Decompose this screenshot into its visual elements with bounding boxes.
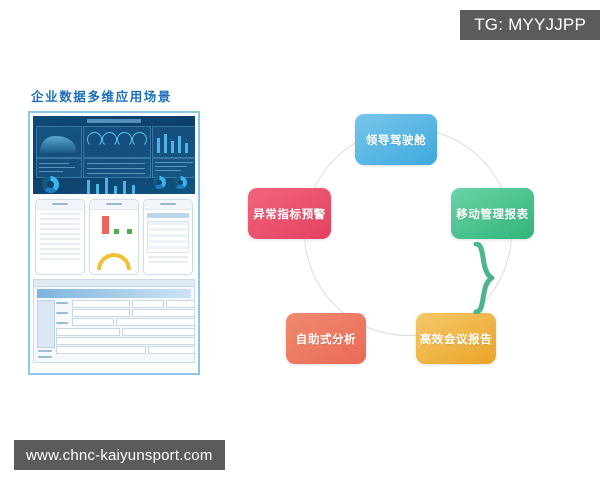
form-menu-bar xyxy=(34,280,194,287)
form-input-field xyxy=(56,337,195,345)
dashboard-gridline xyxy=(155,170,181,171)
form-input-field xyxy=(132,309,195,317)
cycle-diagram: 领导驾驶舱 移动管理报表 高效会议报告 自助式分析 异常指标预警 xyxy=(248,108,588,393)
dashboard-gauge xyxy=(117,132,132,147)
dashboard-bar xyxy=(178,136,181,153)
dashboard-card xyxy=(36,158,82,178)
phone-data-table xyxy=(147,221,189,253)
dashboard-gridline xyxy=(39,167,75,168)
phone-table-header xyxy=(147,213,189,218)
dashboard-bar xyxy=(132,185,135,194)
form-input-field xyxy=(116,318,195,326)
cycle-node-abnormal-indicator-warning[interactable]: 异常指标预警 xyxy=(248,188,331,239)
form-input-field xyxy=(72,318,114,326)
dashboard-bar xyxy=(164,134,167,153)
dashboard-bar xyxy=(114,186,117,194)
cycle-node-mobile-management-report[interactable]: 移动管理报表 xyxy=(451,188,534,239)
form-input-field xyxy=(122,328,195,336)
poster-frame xyxy=(28,111,200,375)
phone-list-row xyxy=(40,228,80,230)
form-input-field xyxy=(72,309,130,317)
dashboard-title-bar xyxy=(87,119,141,123)
phone-marker xyxy=(114,229,119,234)
phone-header xyxy=(144,200,192,210)
dashboard-bar xyxy=(157,138,160,153)
telegram-watermark: TG: MYYJJPP xyxy=(460,10,600,40)
dashboard-donut-chart xyxy=(174,176,187,189)
form-field-label xyxy=(56,322,68,324)
dashboard-gridline xyxy=(39,171,63,172)
phone-list-row xyxy=(40,253,80,255)
cycle-node-self-service-analysis[interactable]: 自助式分析 xyxy=(286,313,366,364)
form-input-field xyxy=(56,346,146,354)
form-field-label xyxy=(56,312,68,314)
phone-bar-chart xyxy=(102,216,109,234)
phone-mockup-list xyxy=(35,199,85,275)
bi-dashboard-image xyxy=(33,116,195,194)
phone-list-row xyxy=(148,256,188,258)
dashboard-donut-chart xyxy=(153,176,166,189)
dashboard-donut-chart xyxy=(42,176,59,193)
dashboard-bar xyxy=(171,141,174,153)
dashboard-gauge xyxy=(132,132,147,147)
dashboard-gridline xyxy=(155,162,193,163)
form-input-field xyxy=(72,300,130,308)
phone-header xyxy=(90,200,138,210)
dashboard-gridline xyxy=(87,173,145,174)
dashboard-gauge xyxy=(102,132,117,147)
phone-list-row xyxy=(148,261,188,263)
phone-list-row xyxy=(40,223,80,225)
phone-header xyxy=(36,200,84,210)
form-input-field xyxy=(132,300,164,308)
form-input-field xyxy=(56,328,120,336)
mobile-mockups-row xyxy=(33,194,195,276)
dashboard-gridline xyxy=(87,163,145,164)
form-field-label xyxy=(38,350,52,352)
phone-list-row xyxy=(40,213,80,215)
dashboard-gridline xyxy=(87,168,145,169)
form-sidebar xyxy=(37,300,55,348)
form-field-label xyxy=(56,302,68,304)
dashboard-bar xyxy=(87,180,90,194)
phone-marker xyxy=(127,229,132,234)
form-title-banner xyxy=(37,289,191,298)
phone-list-row xyxy=(40,218,80,220)
dashboard-bar xyxy=(96,184,99,194)
phone-list-row xyxy=(40,233,80,235)
poster-title: 企业数据多维应用场景 xyxy=(31,86,218,105)
phone-list-row xyxy=(40,248,80,250)
cycle-node-efficient-meeting-report[interactable]: 高效会议报告 xyxy=(416,313,496,364)
dashboard-card xyxy=(152,158,195,178)
curly-brace-icon xyxy=(470,242,496,314)
phone-mockup-table xyxy=(143,199,193,275)
phone-list-row xyxy=(40,238,80,240)
dashboard-bar xyxy=(185,143,188,153)
site-url-watermark: www.chnc-kaiyunsport.com xyxy=(14,440,225,470)
phone-list-row xyxy=(40,258,80,260)
phone-mockup-chart xyxy=(89,199,139,275)
dashboard-gauge xyxy=(87,132,102,147)
dashboard-bar xyxy=(105,178,108,194)
erp-form-screenshot xyxy=(33,279,195,363)
cycle-node-leadership-cockpit[interactable]: 领导驾驶舱 xyxy=(355,114,437,165)
poster-panel: 企业数据多维应用场景 xyxy=(28,86,218,378)
form-field-label xyxy=(38,356,52,358)
phone-list-row xyxy=(40,243,80,245)
dashboard-bar xyxy=(123,181,126,194)
phone-gauge-chart xyxy=(97,253,131,270)
dashboard-gridline xyxy=(39,163,69,164)
dashboard-gridline xyxy=(155,166,187,167)
form-input-field xyxy=(166,300,195,308)
form-input-field xyxy=(148,346,195,354)
